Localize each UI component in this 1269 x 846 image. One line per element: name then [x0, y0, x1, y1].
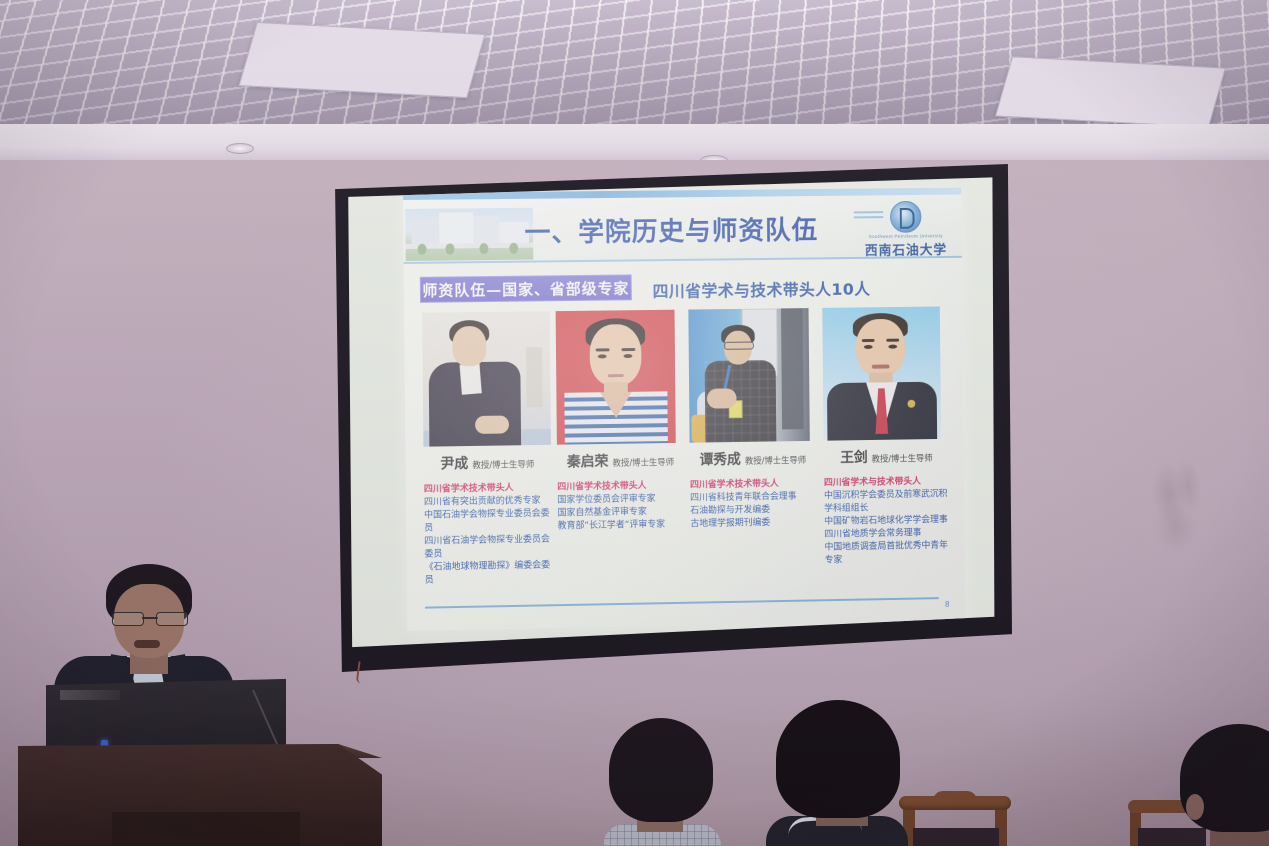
presenter-mouth: [134, 640, 160, 648]
conference-room-photo: 一、学院历史与师资队伍 Southwest Petroleum Universi…: [0, 0, 1269, 846]
expert-bullets: 四川省学术技术带头人 国家学位委员会评审专家 国家自然基金评审专家 教育部“长江…: [557, 480, 684, 534]
expert-title: 教授/博士生导师: [612, 456, 674, 469]
ceiling-light-panel-left: [239, 22, 486, 98]
expert-bullet: 中国沉积学会委员及前寒武沉积: [824, 488, 949, 503]
expert-nameline: 秦启荣 教授/博士生导师: [557, 450, 684, 472]
expert-name: 秦启荣: [567, 451, 609, 472]
chair: [899, 796, 1011, 846]
expert-bullet: 古地理学报期刊编委: [690, 516, 816, 531]
expert-column: 尹成 教授/博士生导师 四川省学术技术带头人 四川省有突出贡献的优秀专家 中国石…: [422, 311, 552, 587]
logo-emblem-icon: [890, 201, 922, 233]
slide-subheading: 四川省学术与技术带头人10人: [652, 276, 870, 302]
campus-photo-icon: [405, 208, 533, 261]
slide-page-number: 8: [945, 600, 949, 609]
expert-column: 王剑 教授/博士生导师 四川省学术与技术带头人 中国沉积学会委员及前寒武沉积 学…: [822, 306, 950, 567]
expert-bullets: 四川省学术技术带头人 四川省科技青年联合会理事 石油勘探与开发编委 古地理学报期…: [690, 477, 817, 531]
logo-english-name: Southwest Petroleum University: [869, 233, 943, 239]
downlight-icon-1: [226, 143, 254, 154]
expert-column: 秦启荣 教授/博士生导师 四川省学术技术带头人 国家学位委员会评审专家 国家自然…: [556, 310, 685, 534]
slide-header-banner: 一、学院历史与师资队伍 Southwest Petroleum Universi…: [403, 195, 962, 263]
portrait-photo: [822, 306, 941, 440]
audience-member: [603, 718, 721, 846]
podium-base: [112, 812, 300, 846]
logo-bars-icon: [854, 211, 884, 225]
university-logo: Southwest Petroleum University 西南石油大学: [854, 201, 958, 259]
expert-title: 教授/博士生导师: [745, 454, 806, 467]
expert-bullets: 四川省学术与技术带头人 中国沉积学会委员及前寒武沉积 学科组组长 中国矿物岩石地…: [824, 475, 950, 567]
expert-name: 王剑: [840, 447, 868, 467]
expert-bullet: 中国石油学会物探专业委员会委员: [424, 508, 552, 536]
portrait-photo: [556, 310, 676, 445]
ceiling: [0, 0, 1269, 128]
eyeglasses-icon: [112, 612, 188, 624]
portrait-photo: [422, 311, 551, 446]
audience-member: [1180, 724, 1269, 846]
microphone-arm: [252, 690, 316, 746]
projected-slide: 一、学院历史与师资队伍 Southwest Petroleum Universi…: [403, 188, 965, 631]
expert-columns: 尹成 教授/博士生导师 四川省学术技术带头人 四川省有突出贡献的优秀专家 中国石…: [418, 306, 960, 602]
podium-brand-label: [60, 690, 120, 700]
expert-nameline: 谭秀成 教授/博士生导师: [690, 448, 816, 470]
expert-bullet: 中国矿物岩石地球化学学会理事: [824, 514, 949, 529]
wall-stain-mark: [1112, 442, 1251, 582]
expert-bullet: 四川省石油学会物探专业委员会委员: [424, 533, 552, 561]
expert-title: 教授/博士生导师: [872, 452, 933, 465]
section-chip: 师资队伍—国家、省部级专家: [420, 274, 632, 302]
expert-bullets: 四川省学术技术带头人 四川省有突出贡献的优秀专家 中国石油学会物探专业委员会委员…: [424, 482, 553, 588]
audience-member: [772, 700, 904, 846]
expert-bullet: 专家: [825, 552, 950, 567]
expert-bullet: 《石油地球物理勘探》编委会委员: [425, 559, 553, 587]
expert-title: 教授/博士生导师: [472, 458, 534, 471]
expert-bullet: 教育部“长江学者”评审专家: [558, 518, 685, 533]
portrait-photo: [688, 308, 809, 443]
expert-nameline: 尹成 教授/博士生导师: [423, 452, 551, 474]
expert-column: 谭秀成 教授/博士生导师 四川省学术技术带头人 四川省科技青年联合会理事 石油勘…: [688, 308, 816, 531]
slide-title: 一、学院历史与师资队伍: [523, 210, 820, 250]
expert-bullet: 中国地质调查局首批优秀中青年: [824, 540, 949, 555]
projection-screen-surface: 一、学院历史与师资队伍 Southwest Petroleum Universi…: [343, 175, 997, 650]
expert-nameline: 王剑 教授/博士生导师: [824, 446, 950, 468]
expert-name: 谭秀成: [699, 449, 741, 469]
ceiling-light-panel-right: [995, 56, 1226, 127]
expert-name: 尹成: [440, 453, 468, 473]
